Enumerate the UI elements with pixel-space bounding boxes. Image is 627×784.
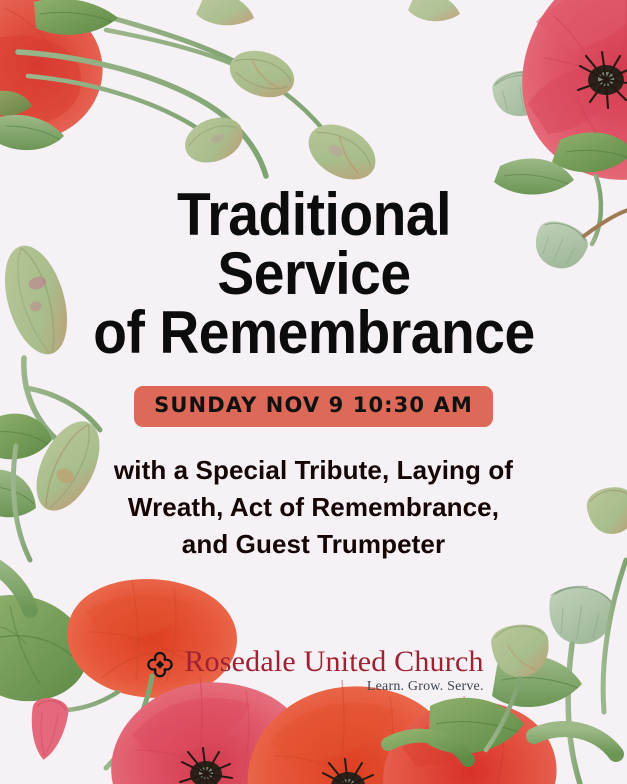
event-details-text: with a Special Tribute, Laying of Wreath… [114,452,514,563]
title-line-2: of Remembrance [74,304,552,363]
page-title: Traditional Service of Remembrance [74,0,552,362]
poster-content: Traditional Service of Remembrance SUNDA… [0,0,627,784]
title-line-1: Traditional Service [74,186,552,304]
remembrance-service-poster: Traditional Service of Remembrance SUNDA… [0,0,627,784]
date-banner: SUNDAY NOV 9 10:30 AM [134,386,493,427]
date-banner-text: SUNDAY NOV 9 10:30 AM [154,393,473,417]
